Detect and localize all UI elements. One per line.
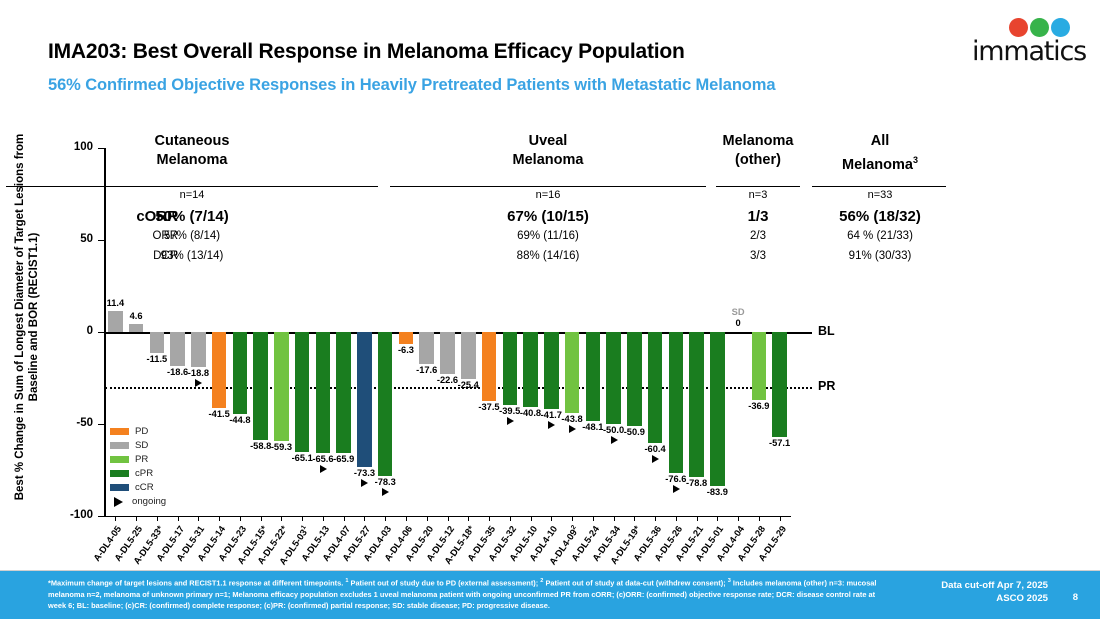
chart-bar xyxy=(544,332,559,409)
legend-item: cPR xyxy=(110,467,166,480)
chart-bar xyxy=(129,324,144,332)
chart-bar xyxy=(233,332,248,414)
footer-meta: Data cut-off Apr 7, 2025 ASCO 2025 xyxy=(941,579,1048,605)
y-axis-tick-mark xyxy=(98,240,104,241)
logo-wordmark: immatics xyxy=(972,36,1086,67)
bar-value-label: 4.6 xyxy=(118,311,155,321)
bar-value-label: -57.1 xyxy=(761,438,798,448)
chart-legend: PDSDPRcPRcCRongoing xyxy=(110,425,166,509)
ongoing-marker-icon xyxy=(195,379,202,387)
legend-swatch xyxy=(110,442,129,449)
chart-bar xyxy=(440,332,455,374)
legend-item: ongoing xyxy=(110,495,166,508)
footnote-text: *Maximum change of target lesions and RE… xyxy=(48,576,878,612)
chart-bar xyxy=(316,332,331,453)
legend-swatch xyxy=(110,428,129,435)
slide-root: IMA203: Best Overall Response in Melanom… xyxy=(0,0,1100,619)
bar-response-tag: SD xyxy=(720,307,757,317)
bar-value-label: -83.9 xyxy=(699,487,736,497)
chart-bar xyxy=(170,332,185,366)
reference-line-label-pr: PR xyxy=(818,379,835,393)
legend-swatch xyxy=(110,484,129,491)
legend-label: cPR xyxy=(135,468,153,479)
reference-line-label-bl: BL xyxy=(818,324,835,338)
data-cutoff-label: Data cut-off Apr 7, 2025 xyxy=(941,579,1048,592)
legend-label: PR xyxy=(135,454,148,465)
chart-bar xyxy=(772,332,787,437)
immatics-logo: immatics xyxy=(966,18,1086,74)
y-axis-label: Best % Change in Sum of Longest Diameter… xyxy=(13,122,41,512)
legend-item: SD xyxy=(110,439,166,452)
chart-bar xyxy=(295,332,310,452)
chart-bar xyxy=(357,332,372,467)
bar-value-label: 11.4 xyxy=(97,298,134,308)
y-axis-tick-label: 50 xyxy=(53,233,93,245)
y-axis-tick-label: 100 xyxy=(53,141,93,153)
legend-item: cCR xyxy=(110,481,166,494)
ongoing-marker-icon xyxy=(652,455,659,463)
chart-bar xyxy=(274,332,289,441)
legend-item: PR xyxy=(110,453,166,466)
bar-value-label: 0 xyxy=(720,318,757,328)
legend-item: PD xyxy=(110,425,166,438)
chart-bar xyxy=(710,332,725,486)
ongoing-marker-icon xyxy=(611,436,618,444)
chart-bar xyxy=(586,332,601,421)
y-axis-tick-label: 0 xyxy=(53,325,93,337)
chart-bar xyxy=(689,332,704,477)
logo-dot-green-icon xyxy=(1030,18,1049,37)
chart-bar xyxy=(523,332,538,407)
page-subtitle: 56% Confirmed Objective Responses in Hea… xyxy=(48,76,775,95)
chart-bar xyxy=(212,332,227,408)
chart-bar xyxy=(752,332,767,400)
legend-label: ongoing xyxy=(132,496,166,507)
footer-bar: *Maximum change of target lesions and RE… xyxy=(0,571,1100,619)
chart-bar xyxy=(648,332,663,443)
legend-label: SD xyxy=(135,440,148,451)
logo-dot-blue-icon xyxy=(1051,18,1070,37)
chart-bar xyxy=(461,332,476,379)
chart-bar xyxy=(627,332,642,426)
chart-bar xyxy=(606,332,621,424)
y-axis-tick-mark xyxy=(98,424,104,425)
y-axis-tick-label: -50 xyxy=(53,417,93,429)
chart-bar xyxy=(565,332,580,413)
chart-bar xyxy=(336,332,351,453)
chart-bar xyxy=(191,332,206,367)
chart-bar xyxy=(399,332,414,344)
chart-bar xyxy=(669,332,684,473)
chart-bar xyxy=(482,332,497,401)
ongoing-marker-icon xyxy=(320,465,327,473)
bar-value-label: -78.3 xyxy=(367,477,404,487)
conference-label: ASCO 2025 xyxy=(941,592,1048,605)
y-axis-tick-label: -100 xyxy=(53,509,93,521)
x-axis-line xyxy=(104,516,791,517)
chart-bar xyxy=(150,332,165,353)
chart-bar xyxy=(419,332,434,364)
chart-bar xyxy=(503,332,518,405)
legend-label: cCR xyxy=(135,482,154,493)
page-number: 8 xyxy=(1073,592,1078,603)
legend-swatch xyxy=(110,470,129,477)
legend-swatch xyxy=(110,456,129,463)
logo-dot-red-icon xyxy=(1009,18,1028,37)
page-title: IMA203: Best Overall Response in Melanom… xyxy=(48,40,685,64)
y-axis-tick-mark xyxy=(98,148,104,149)
y-axis-tick-mark xyxy=(98,332,104,333)
logo-dots xyxy=(1009,18,1070,37)
ongoing-marker-icon xyxy=(382,488,389,496)
ongoing-marker-icon xyxy=(114,497,123,507)
legend-label: PD xyxy=(135,426,148,437)
chart-bar xyxy=(253,332,268,440)
